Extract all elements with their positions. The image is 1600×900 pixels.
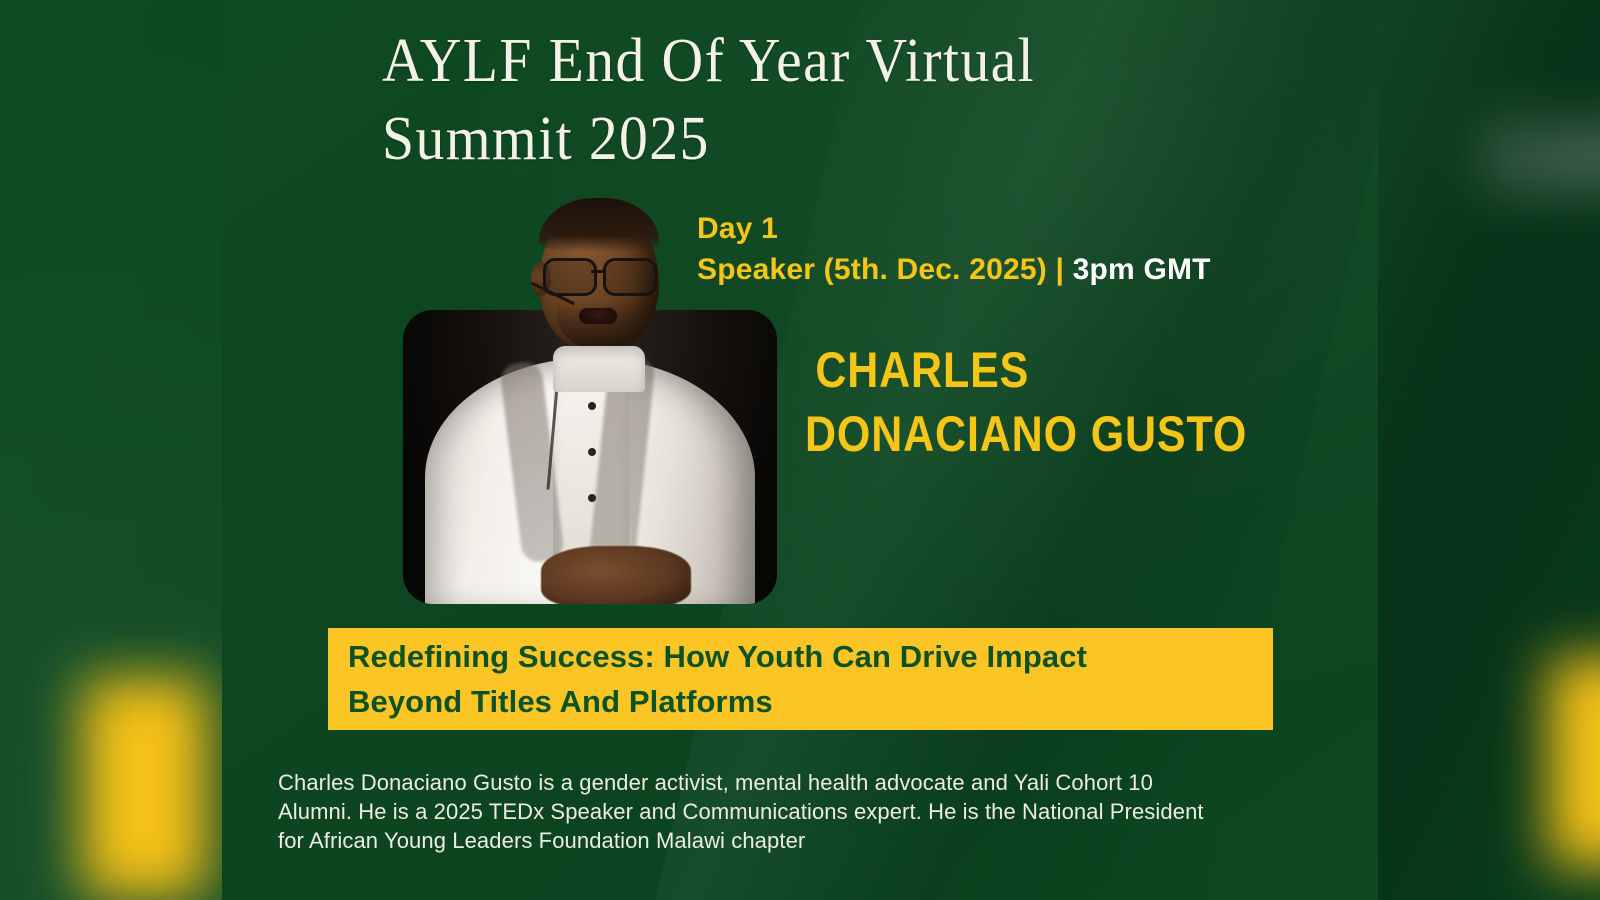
speaker-bio: Charles Donaciano Gusto is a gender acti…	[278, 768, 1308, 855]
bio-line-1: Charles Donaciano Gusto is a gender acti…	[278, 768, 1308, 797]
background-ghost-yellow-block-left	[82, 679, 207, 897]
bio-line-3: for African Young Leaders Foundation Mal…	[278, 826, 1308, 855]
photo-mouth	[579, 308, 617, 324]
speaker-name: CHARLES DONACIANO GUSTO	[805, 338, 1247, 466]
photo-glasses-bridge	[591, 270, 605, 273]
time-label: 3pm GMT	[1073, 253, 1211, 286]
photo-glasses	[541, 258, 659, 292]
photo-head	[523, 196, 675, 392]
photo-hands	[541, 546, 691, 604]
title-line-1: AYLF End Of Year Virtual	[382, 22, 1173, 100]
photo-hair	[539, 198, 659, 252]
topic-line-1: Redefining Success: How Youth Can Drive …	[348, 634, 1253, 679]
speaker-photo	[397, 196, 777, 608]
photo-collar	[553, 346, 645, 392]
photo-shirt-button-1	[588, 402, 596, 410]
photo-shirt-button-3	[588, 494, 596, 502]
background-ghost-gmt: GMT	[1486, 107, 1600, 210]
background-ghost-yellow-block-right	[1549, 658, 1600, 866]
flyer-panel: AYLF End Of Year Virtual Summit 2025 Day…	[222, 0, 1378, 900]
photo-lens-right	[603, 258, 657, 296]
photo-shirt-button-2	[588, 448, 596, 456]
page-title: AYLF End Of Year Virtual Summit 2025	[382, 22, 1173, 178]
topic-banner: Redefining Success: How Youth Can Drive …	[328, 628, 1273, 730]
flyer-canvas: GMT AYLF End Of Year Virtual Summit 2025…	[0, 0, 1600, 900]
topic-line-2: Beyond Titles And Platforms	[348, 679, 1253, 724]
title-line-2: Summit 2025	[382, 100, 1173, 178]
bio-line-2: Alumni. He is a 2025 TEDx Speaker and Co…	[278, 797, 1308, 826]
speaker-name-line-2: DONACIANO GUSTO	[805, 402, 1247, 466]
speaker-name-line-1: CHARLES	[805, 338, 1247, 402]
